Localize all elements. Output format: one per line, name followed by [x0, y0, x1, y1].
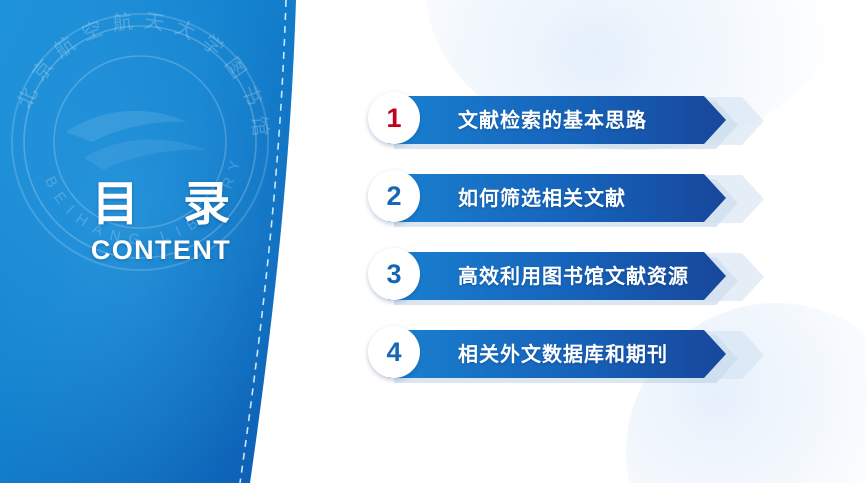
slide-title-en: CONTENT	[0, 235, 320, 266]
menu-item-label: 如何筛选相关文献	[458, 174, 626, 222]
menu-item[interactable]: 相关外文数据库和期刊 4	[368, 326, 788, 404]
menu-item-number-badge[interactable]: 4	[368, 326, 420, 378]
menu-item-label: 相关外文数据库和期刊	[458, 330, 668, 378]
slide-title-block: 目 录 CONTENT	[0, 180, 320, 266]
menu-item-number: 1	[368, 92, 420, 144]
menu-item[interactable]: 高效利用图书馆文献资源 3	[368, 248, 788, 326]
left-blue-panel: 北京航空航天大学图书馆 BEIHANG LIBRARY 目 录 CONTENT	[0, 0, 320, 483]
menu-item-number: 4	[368, 326, 420, 378]
menu-item-number-badge[interactable]: 3	[368, 248, 420, 300]
menu-item-number: 2	[368, 170, 420, 222]
menu-item-number-badge[interactable]: 2	[368, 170, 420, 222]
slide-title-cn: 目 录	[0, 180, 320, 231]
menu-banner[interactable]: 文献检索的基本思路	[386, 96, 786, 152]
menu-item-number-badge[interactable]: 1	[368, 92, 420, 144]
menu-banner[interactable]: 相关外文数据库和期刊	[386, 330, 786, 386]
menu-item[interactable]: 文献检索的基本思路 1	[368, 92, 788, 170]
menu-item[interactable]: 如何筛选相关文献 2	[368, 170, 788, 248]
menu-item-label: 高效利用图书馆文献资源	[458, 252, 689, 300]
menu-item-label: 文献检索的基本思路	[458, 96, 647, 144]
menu-item-number: 3	[368, 248, 420, 300]
menu-banner[interactable]: 如何筛选相关文献	[386, 174, 786, 230]
content-menu-list: 文献检索的基本思路 1	[368, 92, 788, 404]
menu-banner[interactable]: 高效利用图书馆文献资源	[386, 252, 786, 308]
presentation-slide: 北京航空航天大学图书馆 BEIHANG LIBRARY 目 录 CONTENT	[0, 0, 866, 483]
